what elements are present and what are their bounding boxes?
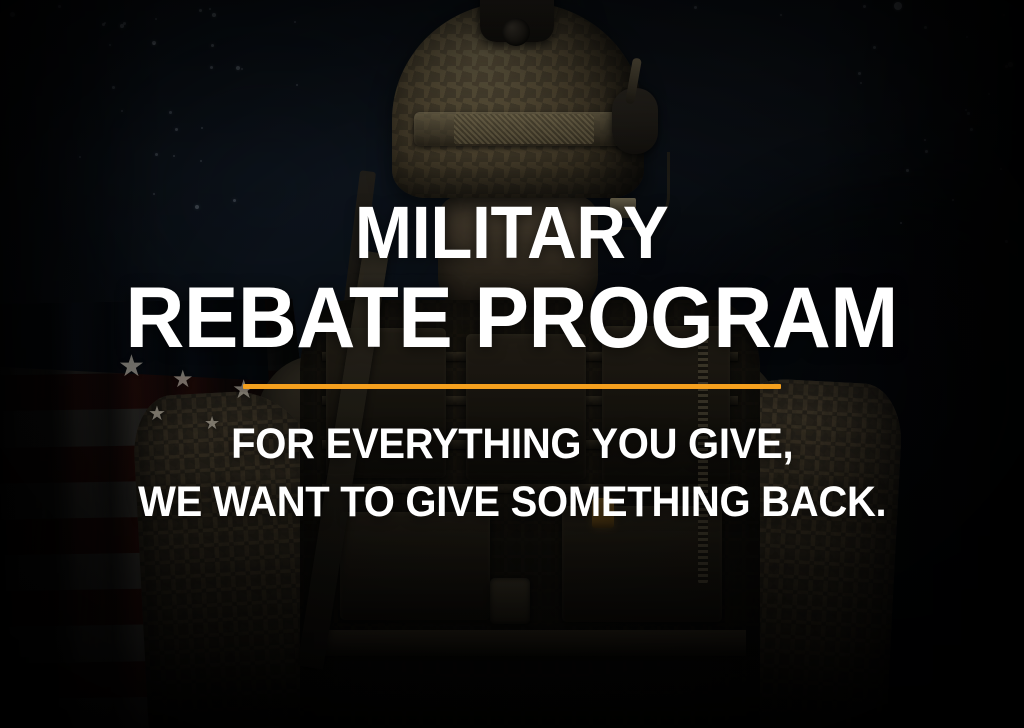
military-rebate-banner: ★★★★★ — [0, 0, 1024, 728]
subheadline-line-1: FOR EVERYTHING YOU GIVE, — [231, 419, 793, 471]
headline-primary: MILITARY — [355, 198, 669, 268]
headline-secondary: REBATE PROGRAM — [126, 278, 899, 359]
accent-divider — [243, 384, 781, 389]
subheadline-line-2: WE WANT TO GIVE SOMETHING BACK. — [138, 477, 886, 529]
banner-content: MILITARY REBATE PROGRAM FOR EVERYTHING Y… — [0, 0, 1024, 728]
